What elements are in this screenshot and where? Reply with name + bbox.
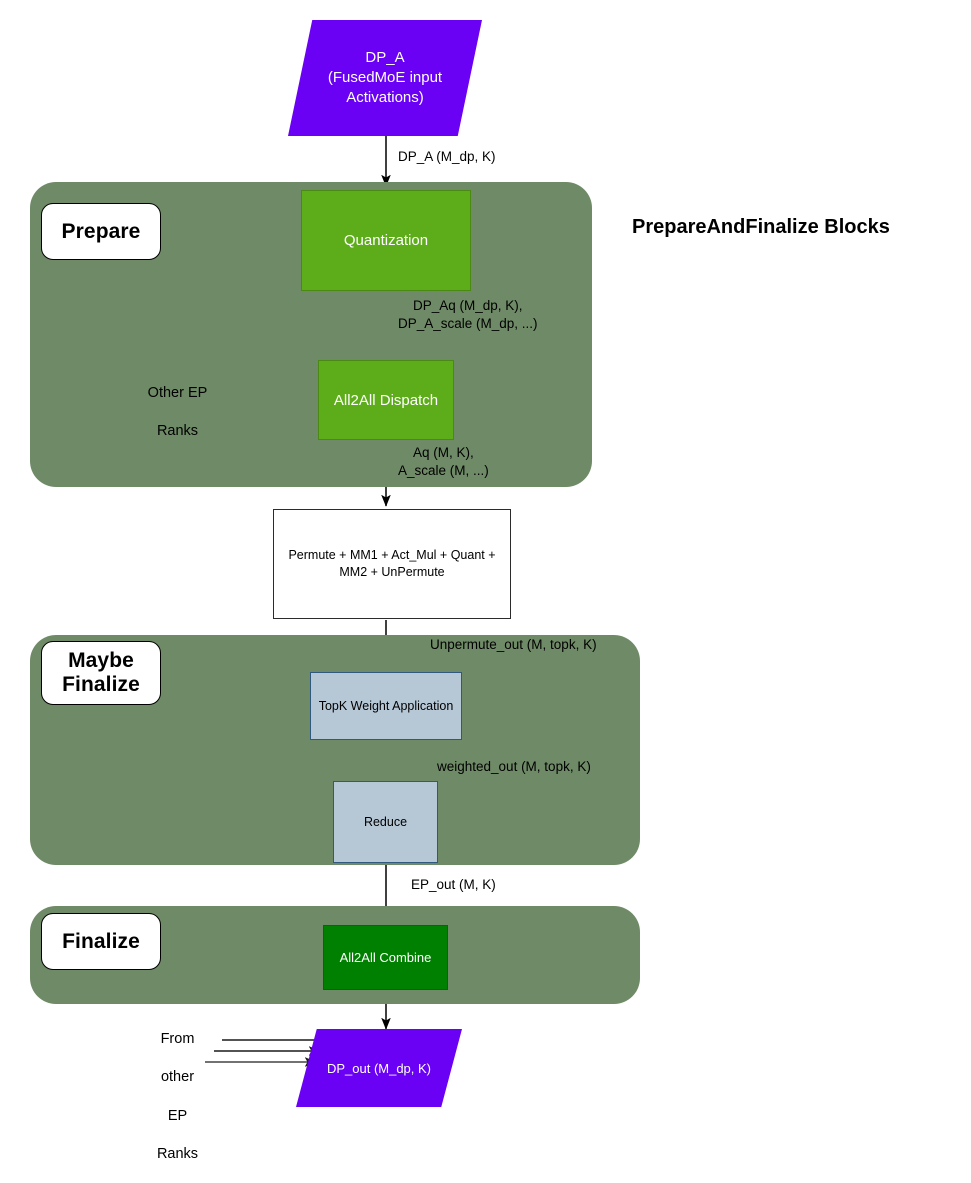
annotation-other-ep-ranks-line2: Ranks: [130, 422, 225, 441]
edge-label-dp-aq-line2: DP_A_scale (M_dp, ...): [398, 315, 538, 333]
annotation-other-ep-ranks: Other EP Ranks: [130, 365, 225, 461]
annotation-other-ep-ranks-line1: Other EP: [130, 384, 225, 403]
node-experts-line1: Permute + MM1 + Act_Mul + Quant +: [288, 547, 495, 564]
node-quantization[interactable]: Quantization: [301, 190, 471, 291]
group-label-finalize-text: Finalize: [62, 930, 140, 954]
node-dp-a-input[interactable]: DP_A (FusedMoE input Activations): [288, 20, 482, 136]
group-label-maybe-finalize-line2: Finalize: [62, 673, 140, 697]
annotation-from-other-ep-ranks-line1: From: [145, 1030, 210, 1049]
node-quantization-label: Quantization: [344, 232, 428, 249]
annotation-from-other-ep-ranks-line4: Ranks: [145, 1145, 210, 1164]
node-all2all-dispatch-label: All2All Dispatch: [334, 392, 438, 409]
group-label-maybe-finalize-line1: Maybe: [68, 649, 134, 673]
edge-label-unpermute-out: Unpermute_out (M, topk, K): [430, 636, 597, 654]
annotation-from-other-ep-ranks-line3: EP: [145, 1107, 210, 1126]
node-dp-a-line1: DP_A: [365, 48, 404, 68]
node-all2all-combine[interactable]: All2All Combine: [323, 925, 448, 990]
node-topk-weight-application[interactable]: TopK Weight Application: [310, 672, 462, 740]
group-label-finalize: Finalize: [41, 913, 161, 970]
node-dp-a-line2: (FusedMoE input: [328, 68, 442, 88]
node-dp-a-line3: Activations): [346, 88, 424, 108]
edge-label-aq-line1: Aq (M, K),: [398, 444, 489, 462]
node-reduce[interactable]: Reduce: [333, 781, 438, 863]
annotation-from-other-ep-ranks: From other EP Ranks: [145, 1011, 210, 1183]
group-label-maybe-finalize: Maybe Finalize: [41, 641, 161, 705]
diagram-canvas: Prepare Maybe Finalize Finalize PrepareA…: [0, 0, 971, 1121]
node-experts-line2: MM2 + UnPermute: [339, 564, 444, 581]
node-topk-weight-application-label: TopK Weight Application: [319, 699, 454, 713]
group-label-prepare: Prepare: [41, 203, 161, 260]
edge-label-aq-line2: A_scale (M, ...): [398, 462, 489, 480]
node-dp-out-label: DP_out (M_dp, K): [327, 1061, 431, 1076]
node-reduce-label: Reduce: [364, 815, 407, 829]
edge-label-aq: Aq (M, K), A_scale (M, ...): [398, 444, 489, 480]
edge-label-weighted-out: weighted_out (M, topk, K): [437, 758, 591, 776]
node-experts-block[interactable]: Permute + MM1 + Act_Mul + Quant + MM2 + …: [273, 509, 511, 619]
edge-label-dp-aq: DP_Aq (M_dp, K), DP_A_scale (M_dp, ...): [398, 297, 538, 333]
node-all2all-combine-label: All2All Combine: [340, 950, 432, 965]
page-title: PrepareAndFinalize Blocks: [632, 216, 890, 239]
node-dp-out[interactable]: DP_out (M_dp, K): [296, 1029, 462, 1107]
node-all2all-dispatch[interactable]: All2All Dispatch: [318, 360, 454, 440]
edge-label-dp-aq-line1: DP_Aq (M_dp, K),: [398, 297, 538, 315]
annotation-from-other-ep-ranks-line2: other: [145, 1068, 210, 1087]
group-label-prepare-text: Prepare: [62, 220, 141, 244]
edge-label-dp-a: DP_A (M_dp, K): [398, 148, 496, 166]
edge-label-ep-out: EP_out (M, K): [411, 876, 496, 894]
